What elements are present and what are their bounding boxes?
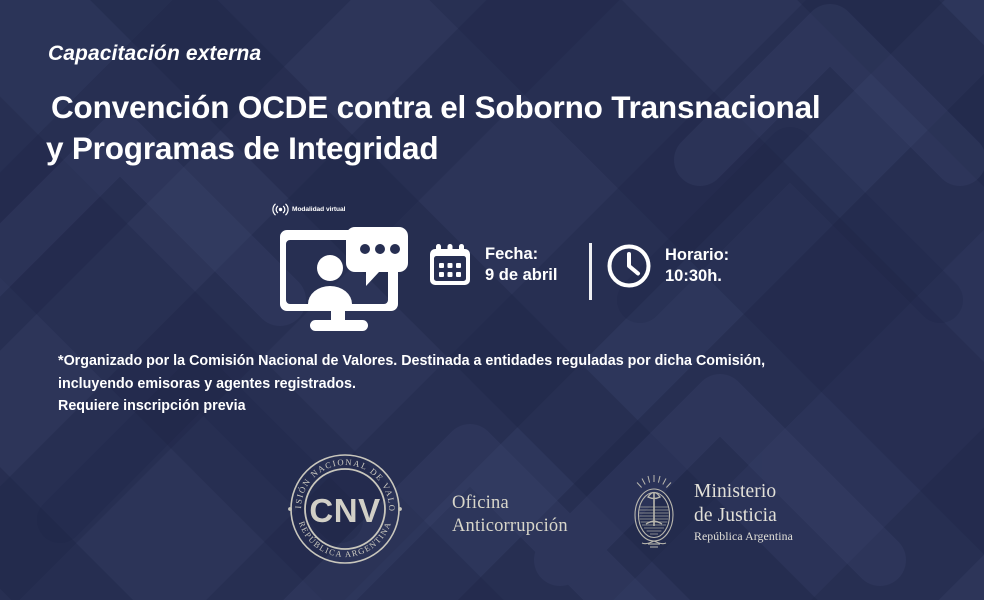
logo-row: COMISIÓN NACIONAL DE VALORES REPÚBLICA A… bbox=[0, 448, 984, 570]
clock-icon bbox=[606, 243, 652, 289]
time-text: Horario: 10:30h. bbox=[665, 245, 729, 287]
anticorruption-line-2: Anticorrupción bbox=[452, 515, 568, 538]
cnv-seal-icon: COMISIÓN NACIONAL DE VALORES REPÚBLICA A… bbox=[281, 450, 409, 568]
eyebrow-label: Capacitación externa bbox=[48, 42, 261, 66]
date-text: Fecha: 9 de abril bbox=[485, 244, 557, 286]
ministry-line-1: Ministerio bbox=[694, 480, 793, 504]
page-title: Convención OCDE contra el Soborno Transn… bbox=[46, 87, 946, 170]
time-value: 10:30h. bbox=[665, 266, 729, 287]
calendar-icon bbox=[428, 243, 472, 287]
event-info-strip: Modalidad virtual bbox=[0, 195, 984, 340]
footnote-line-1: *Organizado por la Comisión Nacional de … bbox=[58, 350, 948, 373]
modality-badge: Modalidad virtual bbox=[272, 203, 345, 216]
poster-content: Capacitación externa Convención OCDE con… bbox=[0, 0, 984, 600]
broadcast-icon bbox=[272, 203, 289, 216]
modality-badge-line-1: Modalidad bbox=[292, 206, 324, 213]
anticorruption-text: Oficina Anticorrupción bbox=[452, 492, 568, 539]
title-line-1: Convención OCDE contra el Soborno Transn… bbox=[46, 87, 946, 128]
ministry-line-3: República Argentina bbox=[694, 528, 793, 546]
date-block: Fecha: 9 de abril bbox=[428, 243, 557, 287]
modality-badge-line-2: virtual bbox=[326, 206, 345, 213]
video-conference-icon bbox=[272, 223, 412, 333]
time-label: Horario: bbox=[665, 245, 729, 266]
footnote-line-2: incluyendo emisoras y agentes registrado… bbox=[58, 373, 948, 396]
logo-anticorruption: Oficina Anticorrupción bbox=[452, 492, 568, 539]
date-label: Fecha: bbox=[485, 244, 557, 265]
vertical-divider bbox=[589, 243, 592, 300]
ministry-line-2: de Justicia bbox=[694, 504, 793, 528]
modality-block: Modalidad virtual bbox=[268, 195, 418, 333]
argentina-coat-of-arms-icon bbox=[628, 474, 680, 552]
logo-ministry: Ministerio de Justicia República Argenti… bbox=[628, 474, 793, 552]
time-block: Horario: 10:30h. bbox=[606, 243, 729, 289]
title-line-2: y Programas de Integridad bbox=[46, 128, 946, 169]
date-value: 9 de abril bbox=[485, 265, 557, 286]
ministry-text: Ministerio de Justicia República Argenti… bbox=[694, 480, 793, 546]
footnote-line-3: Requiere inscripción previa bbox=[58, 395, 948, 418]
footnote: *Organizado por la Comisión Nacional de … bbox=[58, 350, 948, 418]
logo-cnv: COMISIÓN NACIONAL DE VALORES REPÚBLICA A… bbox=[281, 450, 409, 573]
anticorruption-line-1: Oficina bbox=[452, 492, 568, 515]
modality-badge-text: Modalidad virtual bbox=[292, 206, 345, 214]
cnv-acronym: CNV bbox=[309, 492, 380, 529]
